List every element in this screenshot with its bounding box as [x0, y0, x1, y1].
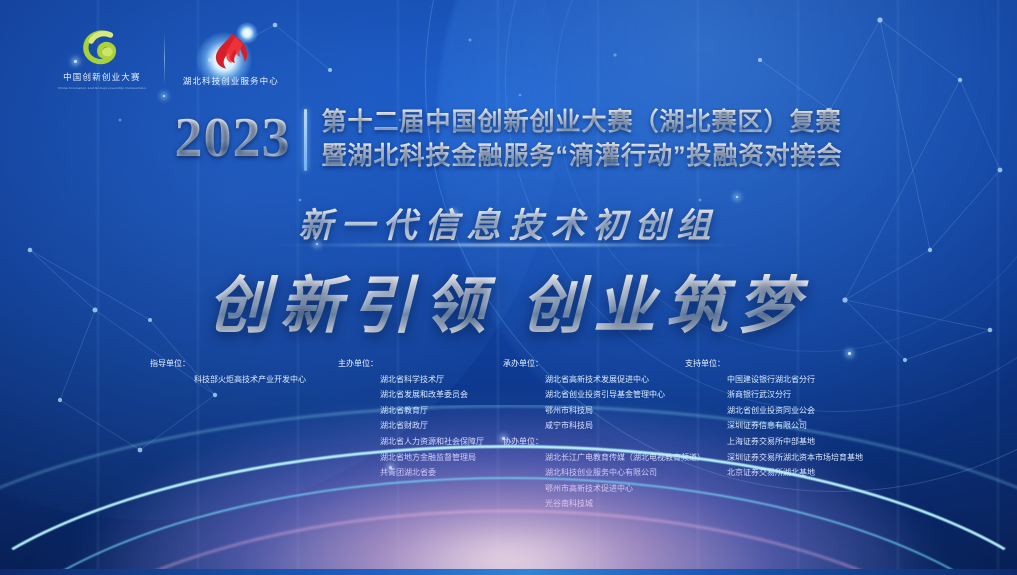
bottom-edge-bar: [0, 569, 1017, 575]
credits-item: 浙商银行武汉分行: [727, 387, 863, 403]
title-line-2: 暨湖北科技金融服务“滴灌行动”投融资对接会: [321, 142, 842, 172]
credits-item: 湖北省发展和改革委员会: [380, 387, 484, 403]
credits-item: 中国建设银行湖北省分行: [727, 372, 863, 388]
logo-hubei-name-cn: 湖北科技创业服务中心: [183, 75, 279, 87]
sparkle-dot: [163, 95, 165, 97]
credits-label-organizer: 承办单位：: [503, 356, 705, 372]
main-title-block: 2023 第十二届中国创新创业大赛（湖北赛区）复赛 暨湖北科技金融服务“滴灌行动…: [0, 108, 1017, 171]
group-subtitle: 新一代信息技术初创组: [0, 198, 1017, 247]
logo-divider: [164, 33, 165, 85]
bottom-light-sweep: [0, 405, 1017, 575]
slogan: 创新引领 创业筑梦: [0, 255, 1017, 345]
logo-hubei-center: 湖北科技创业服务中心: [183, 32, 279, 87]
credits-item: 湖北省科学技术厅: [380, 372, 484, 388]
year-2023: 2023: [174, 110, 290, 170]
credits-item: 科技部火炬高技术产业开发中心: [194, 372, 306, 388]
logo-competition-name-cn: 中国创新创业大赛: [63, 71, 141, 83]
credits-item: 湖北省高新技术发展促进中心: [545, 372, 705, 388]
subtitle-underglow: [274, 243, 744, 247]
title-divider: [304, 109, 307, 171]
credits-label-guidance: 指导单位：: [150, 356, 306, 372]
credits-label-host: 主办单位：: [338, 356, 484, 372]
credits-item: 湖北省创业投资引导基金管理中心: [545, 387, 705, 403]
competition-swirl-icon: [79, 28, 125, 68]
logo-bar: 中国创新创业大赛 China Innovation and Entreprene…: [58, 28, 279, 90]
logo-competition: 中国创新创业大赛 China Innovation and Entreprene…: [58, 28, 146, 90]
credits-label-support: 支持单位：: [685, 356, 863, 372]
poster-canvas: 中国创新创业大赛 China Innovation and Entreprene…: [0, 0, 1017, 575]
sparkle-dot: [848, 352, 851, 355]
logo-competition-name-en: China Innovation and Entrepreneurship Co…: [58, 86, 146, 90]
title-line-1: 第十二届中国创新创业大赛（湖北赛区）复赛: [321, 108, 842, 138]
credits-column-guidance: 指导单位： 科技部火炬高技术产业开发中心: [150, 356, 306, 387]
hubei-flame-icon: [209, 32, 253, 72]
